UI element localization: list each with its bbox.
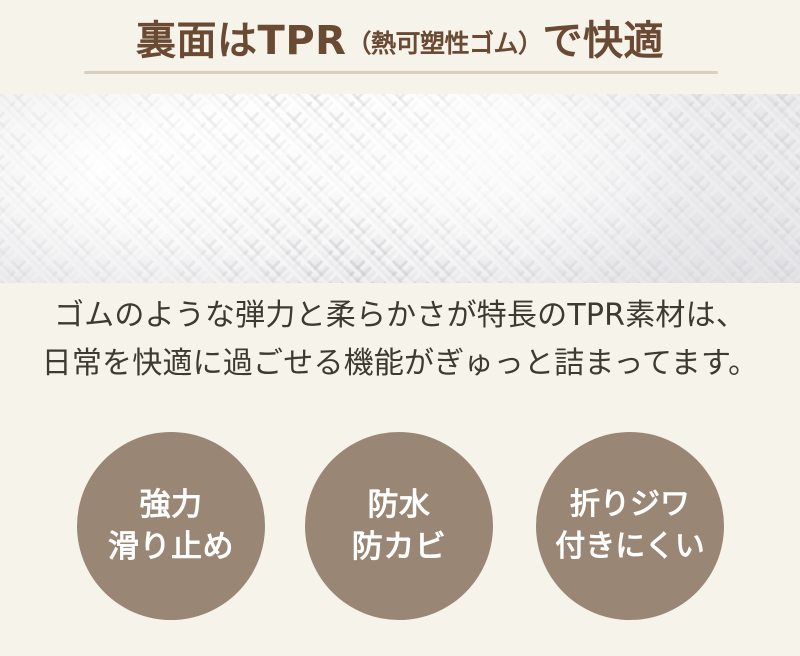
feature-badge-2-line-1: 防水: [368, 484, 431, 526]
body-description: ゴムのような弾力と柔らかさが特長のTPR素材は、 日常を快適に過ごせる機能がぎゅ…: [0, 292, 800, 388]
page-title: 裏面はTPR（熱可塑性ゴム）で快適: [0, 17, 800, 68]
body-line-1: ゴムのような弾力と柔らかさが特長のTPR素材は、: [0, 292, 800, 340]
feature-badge-3-line-2: 付きにくい: [555, 526, 704, 568]
feature-badge-3-line-1: 折りジワ: [570, 484, 690, 526]
feature-badge-wrinkle-resistant: 折りジワ 付きにくい: [536, 432, 724, 620]
feature-badge-2-line-2: 防カビ: [352, 526, 447, 568]
feature-badge-1-line-2: 滑り止め: [108, 526, 234, 568]
title-underline-divider: [84, 71, 718, 74]
page-title-prefix: 裏面はTPR: [136, 18, 346, 64]
feature-badge-1-line-1: 強力: [140, 484, 203, 526]
photo-texture-vignette: [0, 94, 800, 283]
tpr-backing-texture-photo: [0, 94, 800, 283]
feature-badge-waterproof-antimold: 防水 防カビ: [305, 432, 493, 620]
product-feature-banner: 裏面はTPR（熱可塑性ゴム）で快適 ゴムのような弾力と柔らかさが特長のTPR素材…: [0, 0, 800, 656]
page-title-suffix: で快適: [542, 18, 664, 64]
feature-badge-group: 強力 滑り止め 防水 防カビ 折りジワ 付きにくい: [0, 432, 800, 624]
feature-badge-strong-antislip: 強力 滑り止め: [77, 432, 265, 620]
page-title-parenthetical: （熱可塑性ゴム）: [346, 29, 542, 58]
body-line-2: 日常を快適に過ごせる機能がぎゅっと詰まってます。: [0, 340, 800, 388]
header-title-block: 裏面はTPR（熱可塑性ゴム）で快適: [0, 0, 800, 94]
